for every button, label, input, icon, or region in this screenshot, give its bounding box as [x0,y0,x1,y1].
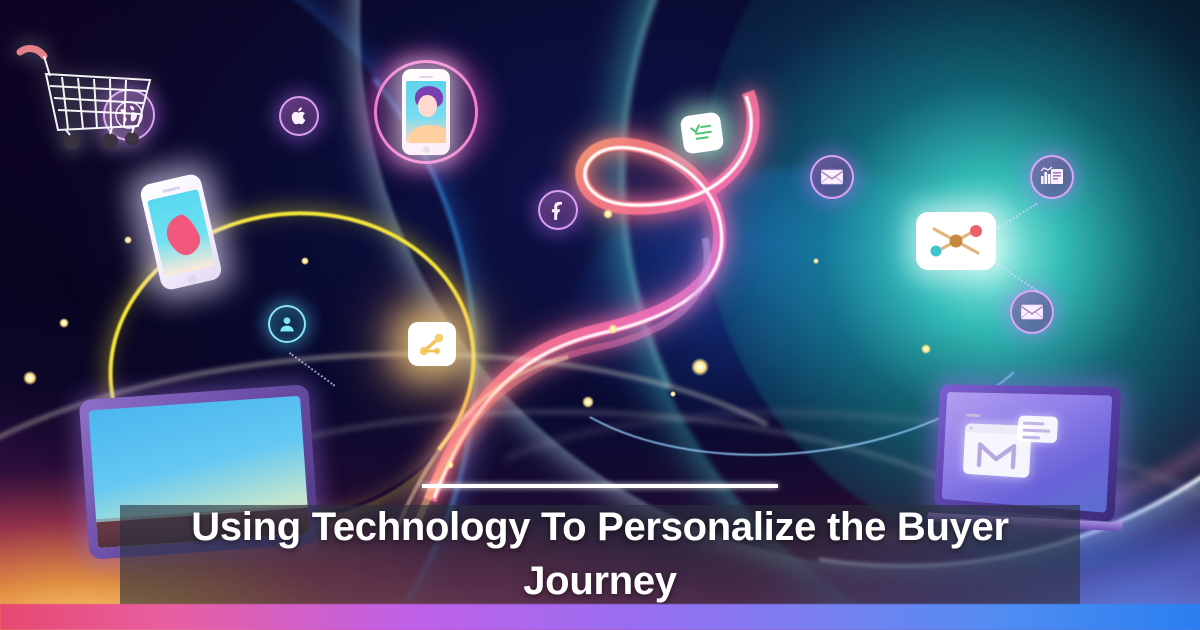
network-card[interactable] [916,212,996,270]
particle-dot [603,209,613,219]
particle-dot [301,257,309,265]
particle-dot [813,258,819,264]
phone-home-button [187,274,198,285]
window-dot [970,426,973,429]
page-title: Using Technology To Personalize the Buye… [120,500,1080,608]
bar-chart-icon[interactable] [1030,155,1074,199]
title-divider-rule [422,484,778,488]
checklist-card[interactable] [680,111,725,154]
shopping-cart-icon [14,34,164,154]
envelope-icon-glyph [819,164,845,190]
mail-m-glyph [974,436,1019,472]
person-body [410,125,446,143]
preview-line-1 [1023,422,1045,426]
user-profile-icon-glyph [277,314,297,334]
phone-home-button [423,146,430,153]
particle-dot [124,236,132,244]
bar-chart-icon-glyph [1039,165,1065,189]
particle-dot [691,358,709,376]
particle-dot [582,396,594,408]
app-blob-shape [161,211,205,260]
particle-dot [59,318,69,328]
email-preview-window [1017,415,1058,443]
checklist-icon [689,120,716,145]
envelope-icon-top[interactable] [810,155,854,199]
envelope-icon-glyph [1019,300,1045,324]
particle-dot [23,371,37,385]
particle-dot [446,461,454,469]
phone-screen [406,81,446,143]
phone-notch [162,186,180,193]
smartphone-person-icon[interactable] [374,60,478,164]
particle-dot [670,391,676,397]
poster-canvas: Using Technology To Personalize the Buye… [0,0,1200,630]
smartphone-person-device [402,69,450,155]
phone-notch [419,76,433,78]
share-node-card[interactable] [408,322,456,366]
preview-line-3 [1022,436,1040,440]
bottom-color-strip [0,604,1200,630]
share-node-icon [417,330,447,358]
apple-icon[interactable] [279,96,319,136]
page-title-line-1: Using Technology To Personalize the Buye… [120,500,1080,554]
apple-icon-glyph [288,105,310,127]
network-icon [924,219,988,263]
screen-accent-line [966,414,981,417]
person-face [418,95,437,117]
particle-dot [921,344,931,354]
particle-dot [608,324,618,334]
preview-line-2 [1023,429,1051,433]
facebook-icon-glyph [547,199,569,221]
facebook-icon[interactable] [538,190,578,230]
phone-screen [147,189,215,277]
page-title-line-2: Journey [120,554,1080,608]
user-profile-icon[interactable] [268,305,306,343]
laptop-screen [942,392,1113,513]
envelope-icon-bottom[interactable] [1010,290,1054,334]
